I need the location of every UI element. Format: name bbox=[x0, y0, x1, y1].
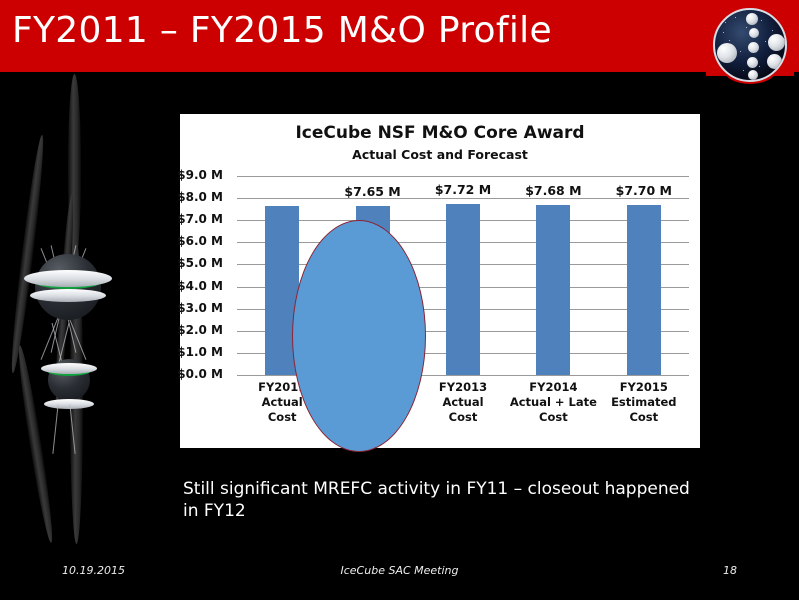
x-axis-category-line: Actual bbox=[413, 395, 513, 410]
chart-subtitle: Actual Cost and Forecast bbox=[180, 147, 700, 162]
logo-sphere-icon bbox=[713, 8, 787, 82]
chart-panel: IceCube NSF M&O Core Award Actual Cost a… bbox=[180, 114, 700, 448]
title-bar: FY2011 – FY2015 M&O Profile bbox=[0, 0, 799, 72]
gridline bbox=[237, 176, 689, 177]
y-axis-tick-label: $5.0 M bbox=[159, 256, 223, 270]
x-axis-category-line: FY2015 bbox=[594, 380, 694, 395]
footer-meeting-name: IceCube SAC Meeting bbox=[0, 564, 799, 577]
chart-title: IceCube NSF M&O Core Award bbox=[180, 123, 700, 143]
highlight-ellipse-annotation bbox=[292, 220, 426, 452]
icecube-logo bbox=[706, 2, 794, 94]
x-axis-category-line: Cost bbox=[413, 410, 513, 425]
bar-value-label: $7.68 M bbox=[503, 183, 603, 198]
bar bbox=[446, 204, 480, 375]
slide-canvas: FY2011 – FY2015 M&O Profile bbox=[0, 0, 799, 600]
x-axis-category-label: FY2013ActualCost bbox=[413, 380, 513, 425]
icecube-dom-string-photo bbox=[0, 74, 175, 544]
y-axis-tick-label: $6.0 M bbox=[159, 234, 223, 248]
bullet-text: Still significant MREFC activity in FY11… bbox=[183, 478, 703, 522]
x-axis-category-line: Cost bbox=[594, 410, 694, 425]
x-axis-category-line: Actual + Late bbox=[503, 395, 603, 410]
footer-page-number: 18 bbox=[723, 564, 737, 577]
bar-value-label: $7.65 M bbox=[323, 184, 423, 199]
y-axis-tick-label: $8.0 M bbox=[159, 190, 223, 204]
x-axis-category-line: FY2014 bbox=[503, 380, 603, 395]
y-axis-tick-label: $1.0 M bbox=[159, 345, 223, 359]
chart-plot-area: $9.0 M$8.0 M$7.0 M$6.0 M$5.0 M$4.0 M$3.0… bbox=[237, 176, 689, 375]
x-axis-category-line: Estimated bbox=[594, 395, 694, 410]
bar bbox=[627, 205, 661, 375]
page-title: FY2011 – FY2015 M&O Profile bbox=[12, 10, 552, 51]
y-axis-tick-label: $0.0 M bbox=[159, 367, 223, 381]
y-axis-tick-label: $9.0 M bbox=[159, 168, 223, 182]
x-axis-category-label: FY2014Actual + LateCost bbox=[503, 380, 603, 425]
x-axis-category-line: Cost bbox=[503, 410, 603, 425]
gridline bbox=[237, 198, 689, 199]
x-axis-category-label: FY2015EstimatedCost bbox=[594, 380, 694, 425]
y-axis-tick-label: $2.0 M bbox=[159, 323, 223, 337]
y-axis-tick-label: $3.0 M bbox=[159, 301, 223, 315]
bar-value-label: $7.70 M bbox=[594, 183, 694, 198]
bar-value-label: $7.72 M bbox=[413, 182, 513, 197]
x-axis-category-line: FY2013 bbox=[413, 380, 513, 395]
bar bbox=[536, 205, 570, 375]
y-axis-tick-label: $4.0 M bbox=[159, 279, 223, 293]
y-axis-tick-label: $7.0 M bbox=[159, 212, 223, 226]
